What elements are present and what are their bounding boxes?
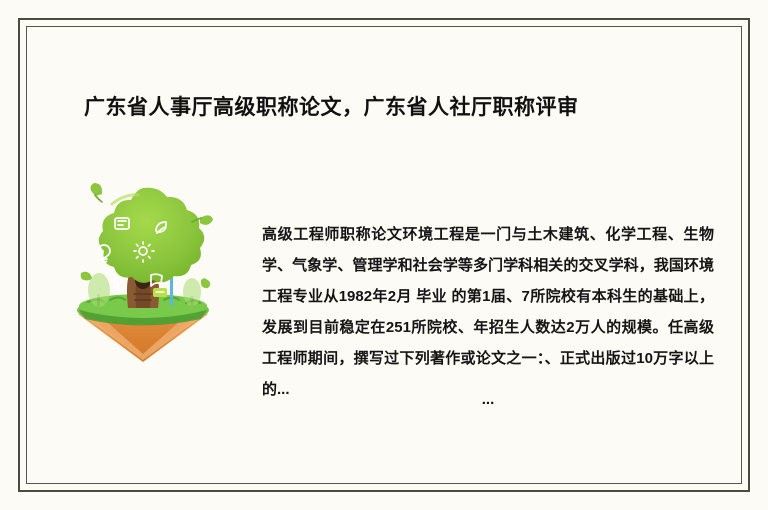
eco-island-illustration xyxy=(52,182,234,362)
page-root: 广东省人事厅高级职称论文，广东省人社厅职称评审 xyxy=(0,0,768,510)
page-title: 广东省人事厅高级职称论文，广东省人社厅职称评审 xyxy=(84,94,684,122)
tree-icon xyxy=(114,276,122,290)
article-body: 高级工程师职称论文环境工程是一门与土木建筑、化学工程、生物学、气象学、管理学和社… xyxy=(262,219,714,405)
article-continuation: ... xyxy=(262,390,714,410)
tree-canopy xyxy=(99,188,205,283)
